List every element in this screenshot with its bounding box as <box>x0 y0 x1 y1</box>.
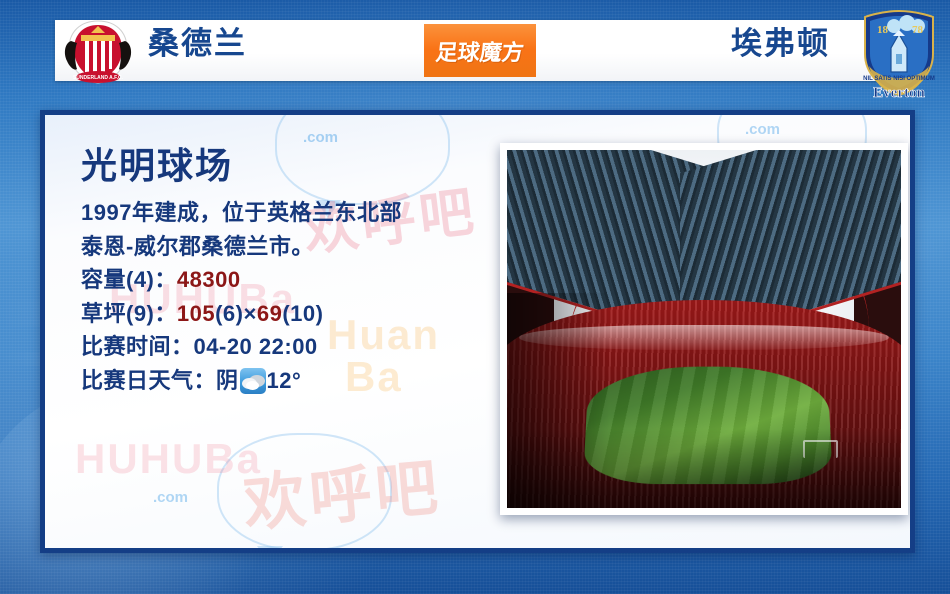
pitch-separator: × <box>244 301 257 326</box>
pitch-row: 草坪(9)：105(6)×69(10) <box>81 297 501 330</box>
capacity-row: 容量(4)：48300 <box>81 263 501 296</box>
site-logo[interactable]: 足球魔方 <box>424 24 536 77</box>
sunderland-crest: SUNDERLAND A.F.C. <box>57 19 139 85</box>
photo-shadow-bottom <box>507 429 901 508</box>
svg-text:18: 18 <box>877 24 889 36</box>
weather-temperature: 12° <box>267 368 302 393</box>
svg-text:NIL SATIS NISI OPTIMUM: NIL SATIS NISI OPTIMUM <box>863 76 935 82</box>
svg-text:78: 78 <box>912 24 924 36</box>
capacity-label: 容量(4)： <box>81 267 177 292</box>
stadium-info-card: .com .com .com 欢呼吧 HUHUBa Huan Ba HUHUBa… <box>40 110 915 553</box>
weather-row: 比赛日天气：阴12° <box>81 364 501 397</box>
stadium-title: 光明球场 <box>81 145 501 187</box>
svg-text:Everton: Everton <box>873 85 925 100</box>
stadium-photo-frame[interactable] <box>500 143 908 515</box>
stadium-description-line-2: 泰恩-威尔郡桑德兰市。 <box>81 230 501 263</box>
pitch-length-value: 105 <box>177 301 215 326</box>
everton-crest: 18 78 NIL SATIS NISI OPTIMUM Everton <box>853 8 945 100</box>
svg-text:SUNDERLAND A.F.C.: SUNDERLAND A.F.C. <box>73 75 124 81</box>
match-time-value: 04-20 22:00 <box>194 334 318 359</box>
pitch-length-rank: (6) <box>215 301 243 326</box>
match-header: SUNDERLAND A.F.C. 桑德兰 足球魔方 埃弗顿 18 78 NIL… <box>0 0 950 100</box>
pitch-width-value: 69 <box>257 301 282 326</box>
match-time-row: 比赛时间：04-20 22:00 <box>81 330 501 363</box>
stadium-info-block: 光明球场 1997年建成，位于英格兰东北部 泰恩-威尔郡桑德兰市。 容量(4)：… <box>81 145 501 397</box>
pitch-label: 草坪(9)： <box>81 301 177 326</box>
home-team-name: 桑德兰 <box>148 28 247 59</box>
weather-label: 比赛日天气： <box>81 368 216 393</box>
match-time-label: 比赛时间： <box>81 334 194 359</box>
stadium-description-line-1: 1997年建成，位于英格兰东北部 <box>81 196 501 229</box>
away-team-name: 埃弗顿 <box>731 28 830 59</box>
pitch-width-rank: (10) <box>282 301 323 326</box>
weather-condition: 阴 <box>216 368 239 393</box>
watermark-com: .com <box>153 489 188 506</box>
capacity-value: 48300 <box>177 267 241 292</box>
site-logo-text: 足球魔方 <box>434 35 525 67</box>
cloudy-weather-icon <box>240 368 266 394</box>
stadium-interior-photo <box>507 150 901 508</box>
watermark-bubble <box>217 433 392 551</box>
